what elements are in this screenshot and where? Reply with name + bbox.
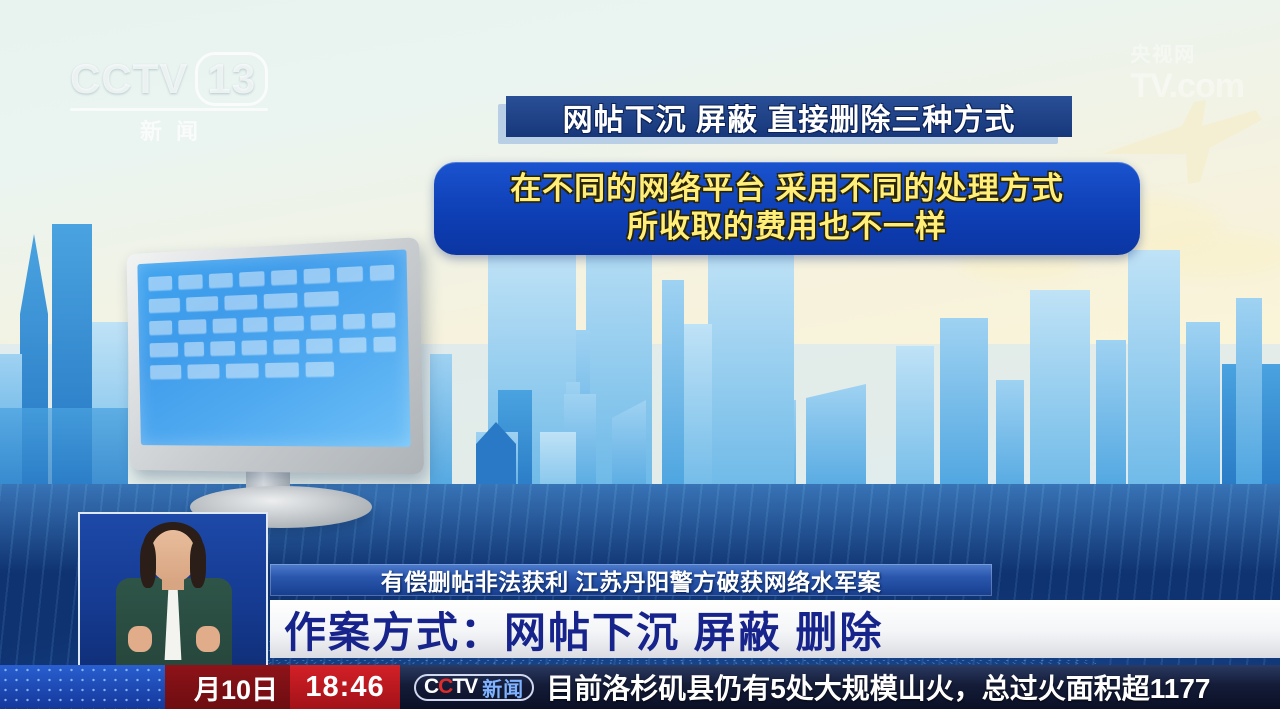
- ticker-date: 月10日: [194, 668, 278, 707]
- cctv-logo-text: CCTV13: [70, 52, 268, 106]
- sign-language-anchor-inset: [78, 512, 268, 671]
- anchor-hair-left: [140, 540, 156, 588]
- ticker-cctv-wordmark: CCTV: [424, 675, 477, 699]
- anchor-hand-right: [196, 626, 220, 652]
- monitor-bezel: [126, 237, 424, 474]
- ticker-dot-panel: [0, 665, 165, 709]
- ticker-headline-text: 目前洛杉矶县仍有5处大规模山火，总过火面积超1177: [546, 667, 1210, 707]
- lower-third-headline: 有偿删帖非法获利 江苏丹阳警方破获网络水军案: [381, 563, 881, 597]
- screen-row: [150, 360, 396, 378]
- top-banner-text: 网帖下沉 屏蔽 直接删除三种方式: [563, 95, 1016, 139]
- monitor-graphic: [118, 246, 448, 521]
- channel-subtitle: 新闻: [70, 114, 268, 146]
- channel-number: 13: [195, 52, 268, 106]
- cctv-news-logo: CCTV 新闻: [414, 674, 534, 701]
- cctv-wordmark: CCTV: [70, 55, 188, 102]
- lower-third-headline-bar: 有偿删帖非法获利 江苏丹阳警方破获网络水军案: [270, 564, 992, 596]
- cctv13-logo: CCTV13 新闻: [70, 52, 268, 146]
- ticker-body: CCTV 新闻 目前洛杉矶县仍有5处大规模山火，总过火面积超1177: [400, 665, 1280, 709]
- screen-row: [149, 289, 395, 313]
- screen-row: [149, 313, 395, 335]
- anchor-hair-right: [190, 540, 206, 588]
- broadcast-screen: CCTV13 新闻 央视网 TV.com 网帖下沉 屏蔽 直接删除三种方式 在不…: [0, 0, 1280, 709]
- logo-divider: [70, 108, 268, 111]
- news-ticker: 月10日 18:46 CCTV 新闻 目前洛杉矶县仍有5处大规模山火，总过火面积…: [0, 665, 1280, 709]
- anchor-hand-left: [128, 626, 152, 652]
- quote-banner: 在不同的网络平台 采用不同的处理方式 所收取的费用也不一样: [434, 162, 1140, 255]
- ticker-time-panel: 18:46: [290, 665, 400, 709]
- cctv-com-watermark: 央视网 TV.com: [1130, 38, 1244, 106]
- screen-row: [150, 336, 396, 356]
- watermark-domain-text: TV.com: [1130, 67, 1244, 106]
- top-banner: 网帖下沉 屏蔽 直接删除三种方式: [506, 96, 1072, 137]
- monitor-screen: [137, 249, 410, 447]
- screen-row: [148, 265, 394, 291]
- quote-line-1: 在不同的网络平台 采用不同的处理方式: [510, 171, 1064, 208]
- quote-line-2: 所收取的费用也不一样: [627, 209, 947, 246]
- ticker-date-panel: 月10日: [165, 665, 290, 709]
- ticker-time: 18:46: [305, 671, 384, 704]
- watermark-cn-text: 央视网: [1130, 38, 1244, 67]
- lower-third-subtitle-bar: 作案方式：网帖下沉 屏蔽 删除: [270, 600, 1280, 658]
- lower-third-subtitle: 作案方式：网帖下沉 屏蔽 删除: [270, 599, 883, 660]
- ticker-news-wordmark: 新闻: [482, 673, 524, 702]
